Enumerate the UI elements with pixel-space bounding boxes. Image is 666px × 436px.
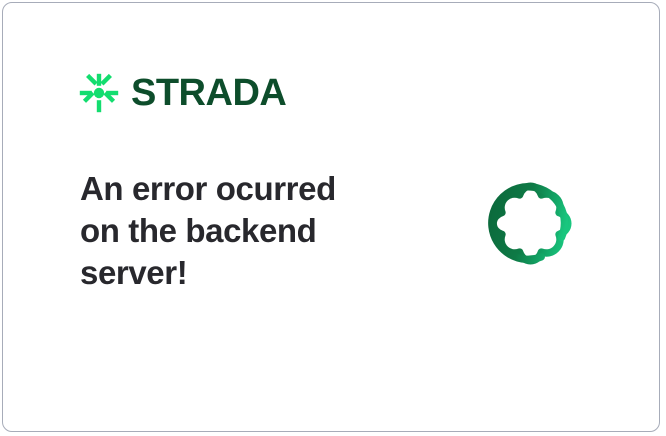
- error-message: An error ocurred on the backend server!: [80, 168, 380, 295]
- strada-asterisk-icon: [79, 73, 119, 113]
- gear-cog-icon: [448, 141, 613, 306]
- brand-wordmark: STRADA: [131, 74, 286, 112]
- brand-lockup: STRADA: [79, 73, 286, 113]
- error-card: STRADA An error ocurred on the backend s…: [2, 2, 660, 432]
